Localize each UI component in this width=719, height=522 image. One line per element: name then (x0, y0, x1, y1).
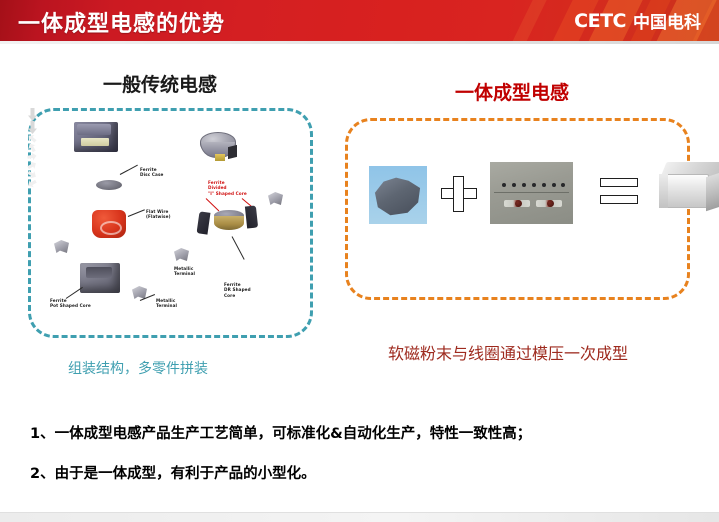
left-panel-title: 一般传统电感 (103, 70, 217, 97)
slide-header: 一体成型电感的优势 CETC 中国电科 (0, 0, 719, 41)
slide: 一体成型电感的优势 CETC 中国电科 一般传统电感 Ferrite Disc … (0, 0, 719, 522)
label-flat-wire: Flat Wire (Flatwise) (146, 209, 171, 220)
plus-operator-icon (441, 176, 477, 212)
leader-line-disc-case (120, 165, 138, 175)
label-ferrite-dr-shaped-core: Ferrite DR Shaped Core (224, 282, 251, 298)
right-panel-title: 一体成型电感 (455, 78, 569, 105)
label-ferrite-disc-case: Ferrite Disc Case (140, 167, 163, 178)
coil-image (490, 162, 573, 224)
equals-operator-icon (600, 178, 638, 204)
assembly-arrow-6-icon (26, 160, 38, 171)
assembly-arrow-8-icon (26, 178, 38, 189)
left-panel-caption: 组装结构，多零件拼装 (68, 358, 208, 378)
page-title: 一体成型电感的优势 (18, 6, 225, 38)
footer-band (0, 512, 719, 522)
label-metallic-terminal-left: Metallic Terminal (156, 298, 177, 309)
ferrite-i-core-right-part (245, 205, 258, 228)
label-ferrite-divided-i-core: Ferrite Divided "I" Shaped Core (208, 180, 247, 196)
leader-line-flat-wire (128, 209, 145, 217)
ferrite-pot-shaped-core-part (80, 263, 120, 293)
metallic-terminal-part-d (174, 248, 189, 261)
molded-inductor-image (657, 160, 719, 216)
label-metallic-terminal-right: Metallic Terminal (174, 266, 195, 277)
brand-chinese-text: 中国电科 (633, 8, 701, 33)
ferrite-dr-shaped-core-part (214, 210, 244, 232)
assembly-arrow-5-icon (27, 152, 37, 161)
assembly-arrow-1-icon (28, 108, 37, 121)
bullet-item-1: 1、一体成型电感产品生产工艺简单，可标准化&自动化生产，特性一致性高； (30, 422, 531, 443)
ferrite-disc-core-part (96, 180, 122, 190)
soft-magnetic-powder-image (369, 166, 427, 224)
assembly-arrow-2-icon (28, 121, 37, 134)
leader-line-dr-core (232, 236, 245, 259)
flat-wire-coil-part (92, 210, 126, 238)
molded-inductor-formula-diagram (345, 118, 690, 300)
right-panel-caption: 软磁粉末与线圈通过模压一次成型 (388, 340, 628, 364)
label-ferrite-pot-shaped-core: Ferrite Pot Shaped Core (50, 298, 91, 309)
traditional-inductor-photo-2 (198, 130, 240, 164)
traditional-inductor-photo-1 (74, 122, 118, 152)
assembly-arrow-3-icon (26, 133, 38, 145)
header-underline (0, 41, 719, 44)
metallic-terminal-part-c (268, 192, 283, 205)
metallic-terminal-part-a (54, 240, 69, 253)
cetc-logo: CETC 中国电科 (574, 8, 701, 33)
traditional-inductor-diagram: Ferrite Disc Case Flat Wire (Flatwise) F… (28, 108, 313, 338)
assembly-arrow-4-icon (26, 142, 37, 154)
brand-latin-text: CETC (574, 10, 626, 32)
assembly-arrow-7-icon (26, 169, 38, 180)
bullet-item-2: 2、由于是一体成型，有利于产品的小型化。 (30, 462, 316, 483)
ferrite-i-core-left-part (197, 211, 211, 234)
